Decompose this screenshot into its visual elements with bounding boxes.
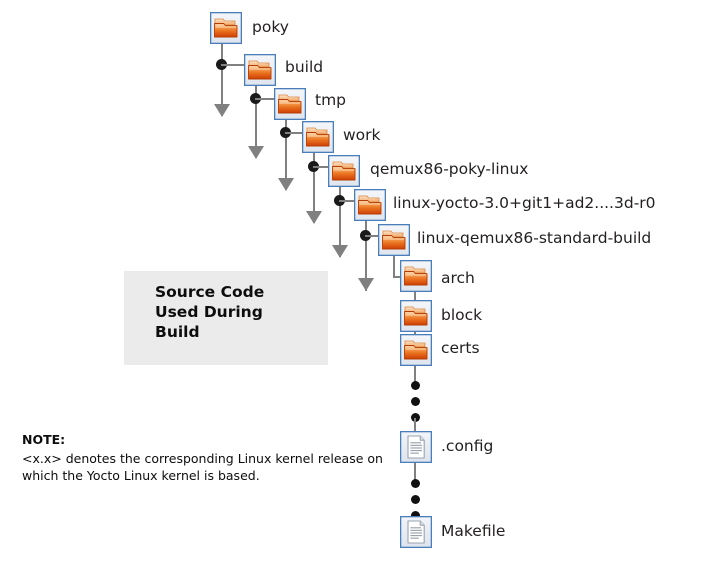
document-icon-config[interactable] [400,431,432,463]
folder-label-linux-qemux86-standard-build: linux-qemux86-standard-build [417,231,651,247]
folder-label-block: block [441,308,482,324]
folder-icon-arch[interactable] [400,260,432,292]
folder-icon-build[interactable] [244,54,276,86]
folder-icon-certs[interactable] [400,334,432,366]
folder-icon-block[interactable] [400,300,432,332]
connector-arrow-linuxyocto [358,278,374,291]
folder-label-build: build [285,60,323,76]
connector-arrow-build [248,146,264,159]
callout-text: Source Code Used During Build [155,282,264,342]
ellipsis-dot [411,495,420,504]
ellipsis-dot [411,479,420,488]
diagram-canvas: poky build tmp work qemux86-poky-linux l… [0,0,705,581]
folder-icon-linux-yocto[interactable] [354,189,386,221]
connector-vline-stdbuild [393,256,395,278]
folder-label-work: work [343,128,381,144]
folder-icon-qemux86-poky-linux[interactable] [328,155,360,187]
folder-icon-linux-qemux86-standard-build[interactable] [378,224,410,256]
note-title: NOTE: [22,432,65,447]
ellipsis-dot [411,397,420,406]
note-body: <x.x> denotes the corresponding Linux ke… [22,450,392,484]
file-label-makefile: Makefile [441,524,505,540]
folder-icon-work[interactable] [302,121,334,153]
folder-label-arch: arch [441,271,475,287]
folder-label-linux-yocto: linux-yocto-3.0+git1+ad2....3d-r0 [393,196,656,212]
document-icon-makefile[interactable] [400,516,432,548]
connector-arrow-qemux86 [332,245,348,258]
connector-arrow-tmp [278,178,294,191]
folder-label-tmp: tmp [315,93,346,109]
folder-icon-tmp[interactable] [274,88,306,120]
file-label-config: .config [441,439,493,455]
folder-label-certs: certs [441,341,480,357]
folder-icon-poky[interactable] [210,12,242,44]
folder-label-poky: poky [252,20,289,36]
connector-arrow-poky [214,104,230,117]
ellipsis-dot [411,381,420,390]
folder-label-qemux86-poky-linux: qemux86-poky-linux [370,162,528,178]
connector-arrow-work [306,211,322,224]
